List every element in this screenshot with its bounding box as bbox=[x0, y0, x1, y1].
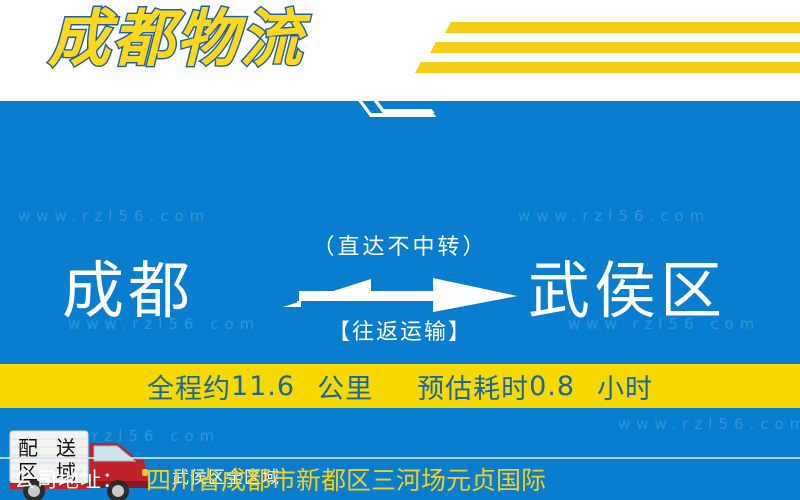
page-title: 成都物流 bbox=[48, 2, 304, 76]
double-arrow-icon bbox=[283, 274, 517, 314]
poster-footer: 公司地址： 四川省成都市新都区三河场元贞国际 bbox=[0, 460, 800, 500]
footer-divider bbox=[0, 457, 800, 459]
chevron-down-icon bbox=[352, 97, 448, 131]
watermark: www.rzl56.com bbox=[518, 207, 710, 225]
duration-unit: 小时 bbox=[597, 367, 653, 406]
stripe-3 bbox=[415, 62, 800, 73]
distance-unit: 公里 bbox=[317, 367, 373, 406]
poster-header: 成都物流 成都物流 bbox=[0, 0, 800, 97]
watermark: www.rzl56.com bbox=[618, 415, 800, 433]
poster-body: www.rzl56.com www.rzl56.com www.rzl56.co… bbox=[0, 97, 800, 500]
distance-band-text: 全程约11.6公里预估耗时0.8小时 bbox=[0, 364, 800, 408]
company-address-value: 四川省成都市新都区三河场元贞国际 bbox=[146, 461, 546, 497]
stripe-1 bbox=[445, 22, 800, 33]
duration-value: 0.8 bbox=[529, 371, 575, 402]
direct-route-note: （直达不中转） bbox=[250, 234, 550, 262]
distance-band: 全程约11.6公里预估耗时0.8小时 bbox=[0, 364, 800, 408]
origin-city: 成都 bbox=[62, 255, 194, 327]
watermark: www.rzl56.com bbox=[18, 207, 210, 225]
distance-value: 11.6 bbox=[231, 371, 295, 402]
roundtrip-note: 【往返运输】 bbox=[250, 319, 550, 347]
header-stripes-decoration bbox=[405, 10, 800, 80]
stripe-2 bbox=[430, 42, 800, 53]
duration-prefix: 预估耗时 bbox=[417, 367, 529, 406]
destination-city: 武侯区 bbox=[528, 255, 726, 327]
logistics-poster: 成都物流 成都物流 www.rzl56.com www.rzl56.com ww… bbox=[0, 0, 800, 500]
distance-prefix: 全程约 bbox=[147, 367, 231, 406]
company-address-label: 公司地址： bbox=[14, 464, 124, 494]
